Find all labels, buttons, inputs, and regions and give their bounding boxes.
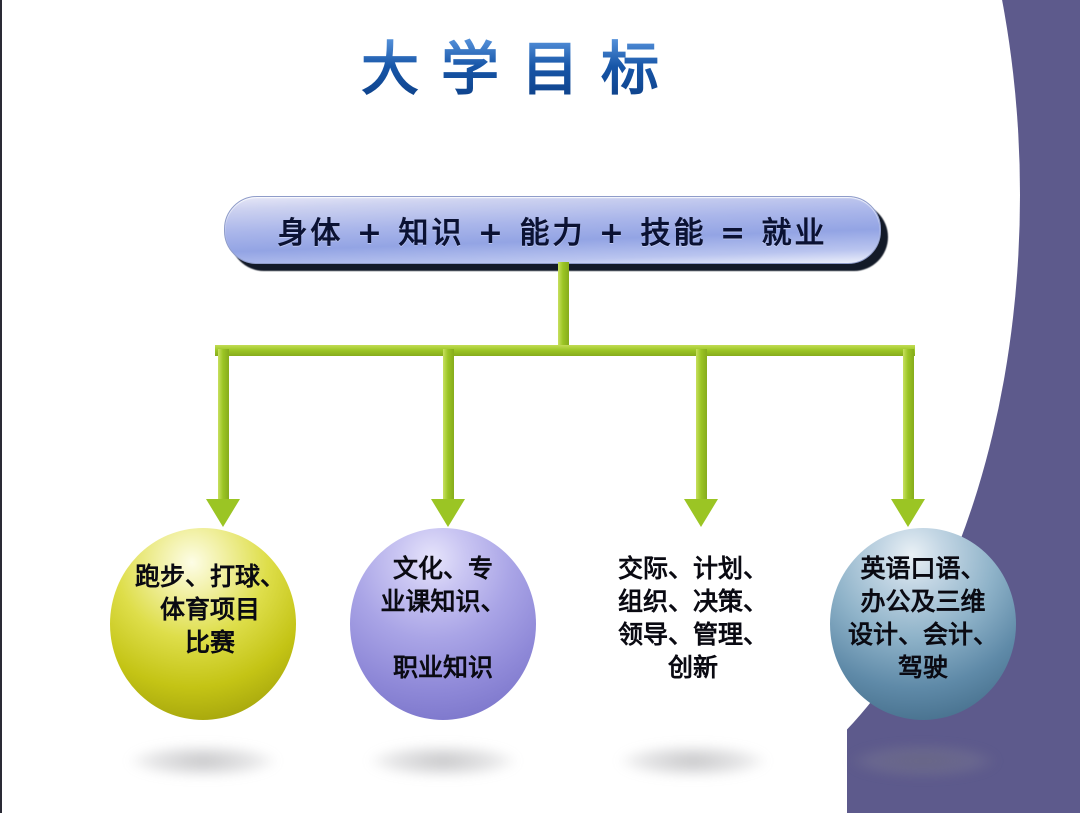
white-left-panel	[2, 0, 662, 813]
formula-box: 身体 + 知识 + 能力 + 技能 = 就业	[224, 196, 881, 264]
sphere-label-ability: 交际、计划、 组织、决策、 领导、管理、 创新	[568, 552, 818, 684]
formula-text: 身体 + 知识 + 能力 + 技能 = 就业	[277, 208, 827, 252]
arrow-down-4	[903, 349, 914, 499]
sphere-label-knowledge: 文化、专 业课知识、 职业知识	[318, 552, 568, 684]
arrow-down-2	[443, 349, 454, 499]
sphere-shadow-4	[848, 744, 998, 778]
arrow-down-3	[696, 349, 707, 499]
sphere-shadow-1	[128, 744, 278, 778]
sphere-label-body: 跑步、打球、 体育项目 比赛	[85, 560, 335, 659]
page-title: 大学目标	[2, 36, 1018, 103]
sphere-shadow-2	[368, 744, 518, 778]
arrow-down-1	[218, 349, 229, 499]
slide-canvas: 大学目标 身体 + 知识 + 能力 + 技能 = 就业 跑步、打球、 体育项目 …	[0, 0, 1080, 813]
connector-horizontal-bar	[215, 345, 915, 356]
sphere-shadow-3	[618, 744, 768, 778]
sphere-label-skill: 英语口语、 办公及三维 设计、会计、 驾驶	[798, 552, 1048, 684]
connector-stem	[558, 262, 569, 352]
